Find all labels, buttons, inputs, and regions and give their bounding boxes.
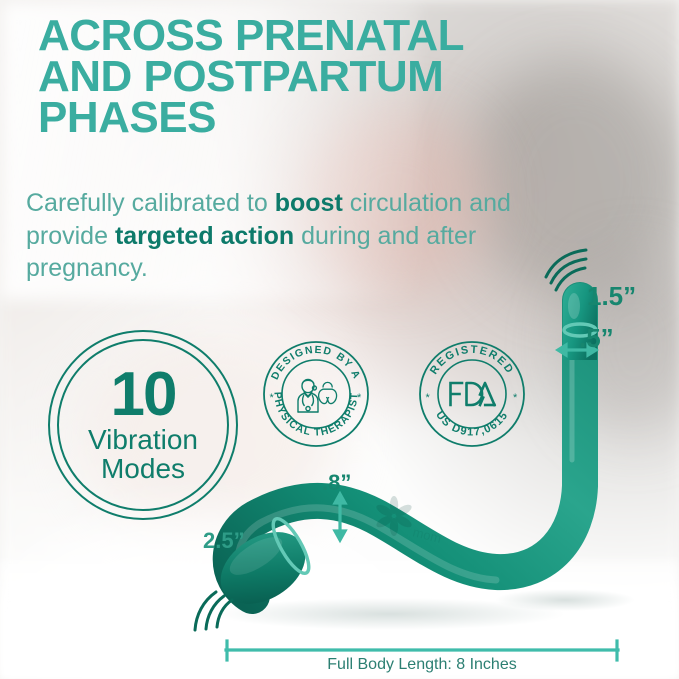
svg-text:PHYSICAL THERAPIST: PHYSICAL THERAPIST bbox=[271, 392, 360, 439]
tip-width-label: .5” bbox=[579, 323, 614, 354]
fda-seal-icon: REGISTERED US D917,0615 * * bbox=[418, 340, 526, 448]
seal-asterisk: * bbox=[426, 392, 431, 404]
headline: ACROSS PRENATAL AND POSTPARTUM PHASES bbox=[38, 16, 618, 139]
fda-wordmark bbox=[451, 383, 495, 405]
vibration-modes-count: 10 bbox=[111, 367, 176, 423]
subheadline: Carefully calibrated to boost circulatio… bbox=[26, 187, 586, 285]
seal-asterisk: * bbox=[357, 392, 362, 404]
badge-text-group: 10 Vibration Modes bbox=[48, 330, 238, 520]
headline-line-1: ACROSS PRENATAL bbox=[38, 16, 618, 57]
seal-asterisk: * bbox=[270, 392, 275, 404]
pelvis-icon bbox=[319, 382, 337, 403]
full-body-length-group: Full Body Length: 8 Inches bbox=[222, 644, 622, 678]
subheadline-part-1: Carefully calibrated to bbox=[26, 189, 275, 217]
vibration-modes-label-line-1: Vibration bbox=[88, 426, 198, 455]
seal-asterisk: * bbox=[513, 392, 518, 404]
full-body-length-label: Full Body Length: 8 Inches bbox=[222, 656, 622, 674]
physical-therapist-seal-icon: DESIGNED BY A PHYSICAL THERAPIST * * bbox=[262, 340, 370, 448]
body-thickness-label: .8” bbox=[322, 470, 351, 496]
subheadline-bold-2: targeted action bbox=[115, 222, 294, 250]
svg-text:US D917,0615: US D917,0615 bbox=[433, 409, 511, 438]
fda-registered-seal: REGISTERED US D917,0615 * * bbox=[418, 340, 526, 448]
subheadline-bold-1: boost bbox=[275, 189, 343, 217]
vibration-modes-badge: 10 Vibration Modes bbox=[48, 330, 238, 520]
therapist-figure-icon bbox=[298, 379, 318, 412]
vibration-modes-label-line-2: Modes bbox=[101, 455, 185, 484]
headline-line-2: AND POSTPARTUM bbox=[38, 57, 618, 98]
infographic-canvas: ACROSS PRENATAL AND POSTPARTUM PHASES Ca… bbox=[0, 0, 679, 679]
bulb-width-label: 2.5” bbox=[203, 528, 245, 554]
designed-by-physical-therapist-seal: DESIGNED BY A PHYSICAL THERAPIST * * bbox=[262, 340, 370, 448]
tip-length-label: 1.5” bbox=[587, 281, 636, 312]
svg-text:DESIGNED BY A: DESIGNED BY A bbox=[270, 345, 362, 382]
headline-line-3: PHASES bbox=[38, 98, 618, 139]
